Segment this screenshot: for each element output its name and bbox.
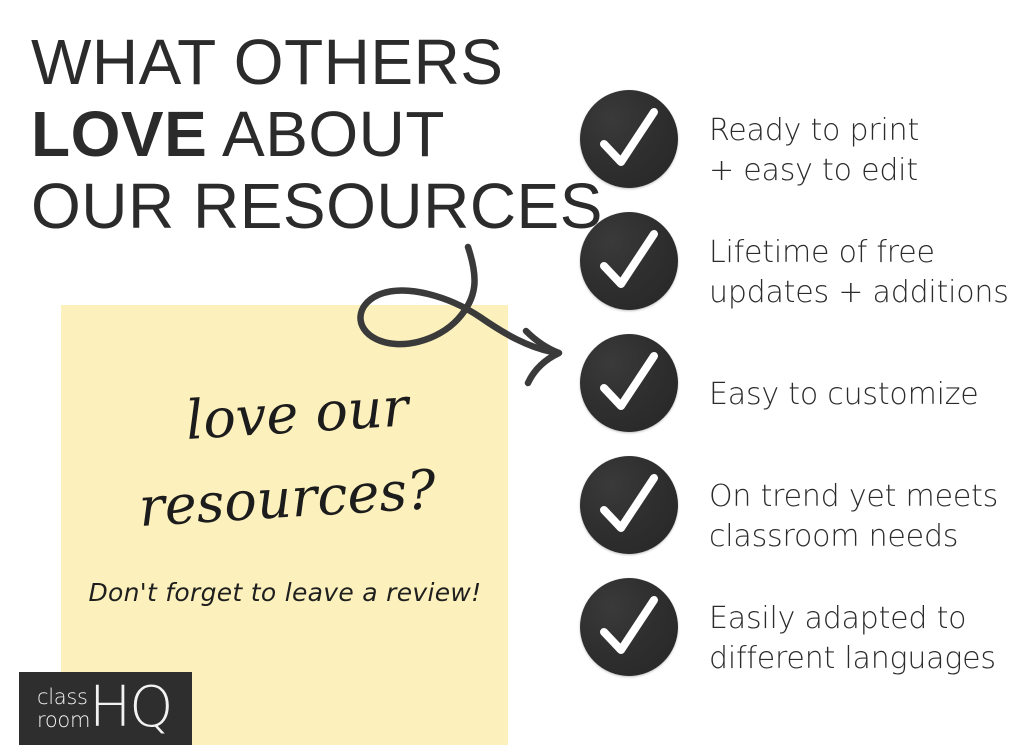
list-item-line-1: On trend yet meets — [709, 477, 998, 517]
logo-inner: class room HQ — [37, 682, 171, 736]
logo-word-class: class — [37, 686, 90, 709]
heading-emphasis-love: LOVE — [31, 98, 207, 170]
note-review-text: Don't forget to leave a review! — [60, 578, 510, 607]
list-item-line-1: Easy to customize — [709, 375, 979, 415]
list-item: Easy to customize — [580, 334, 1010, 456]
list-item: On trend yet meets classroom needs — [580, 456, 1010, 578]
list-item-label: Easy to customize — [709, 375, 979, 415]
list-item: Ready to print + easy to edit — [580, 90, 1010, 212]
check-mark-icon — [580, 578, 678, 676]
benefits-checklist: Ready to print + easy to edit Lifetime o… — [580, 90, 1010, 700]
list-item: Lifetime of free updates + additions — [580, 212, 1010, 334]
check-mark-icon — [580, 456, 678, 554]
heading-line-1: WHAT OTHERS — [31, 26, 591, 98]
page-title: WHAT OTHERS LOVE ABOUT OUR RESOURCES — [31, 26, 591, 242]
list-item-line-1: Lifetime of free — [709, 233, 1009, 273]
list-item-line-1: Ready to print — [709, 111, 919, 151]
heading-line-3: OUR RESOURCES — [31, 170, 591, 242]
logo-word-room: room — [37, 709, 90, 732]
logo-wordmark: class room — [37, 686, 90, 732]
check-mark-icon — [580, 212, 678, 310]
check-mark-icon — [580, 334, 678, 432]
heading-line-2-rest: ABOUT — [207, 98, 445, 170]
list-item-label: Lifetime of free updates + additions — [709, 233, 1009, 313]
list-item-line-2: classroom needs — [709, 517, 998, 557]
list-item-line-2: updates + additions — [709, 273, 1009, 313]
list-item-line-1: Easily adapted to — [709, 599, 996, 639]
logo-hq-mark: HQ — [89, 683, 171, 733]
list-item: Easily adapted to different languages — [580, 578, 1010, 700]
note-script-text: love our resources? — [70, 360, 499, 553]
list-item-label: On trend yet meets classroom needs — [709, 477, 998, 557]
list-item-line-2: + easy to edit — [709, 151, 919, 191]
classroomhq-logo: class room HQ — [19, 672, 192, 745]
list-item-label: Ready to print + easy to edit — [709, 111, 919, 191]
promo-graphic: WHAT OTHERS LOVE ABOUT OUR RESOURCES lov… — [0, 0, 1024, 745]
heading-line-2: LOVE ABOUT — [31, 98, 591, 170]
check-mark-icon — [580, 90, 678, 188]
list-item-line-2: different languages — [709, 639, 996, 679]
list-item-label: Easily adapted to different languages — [709, 599, 996, 679]
